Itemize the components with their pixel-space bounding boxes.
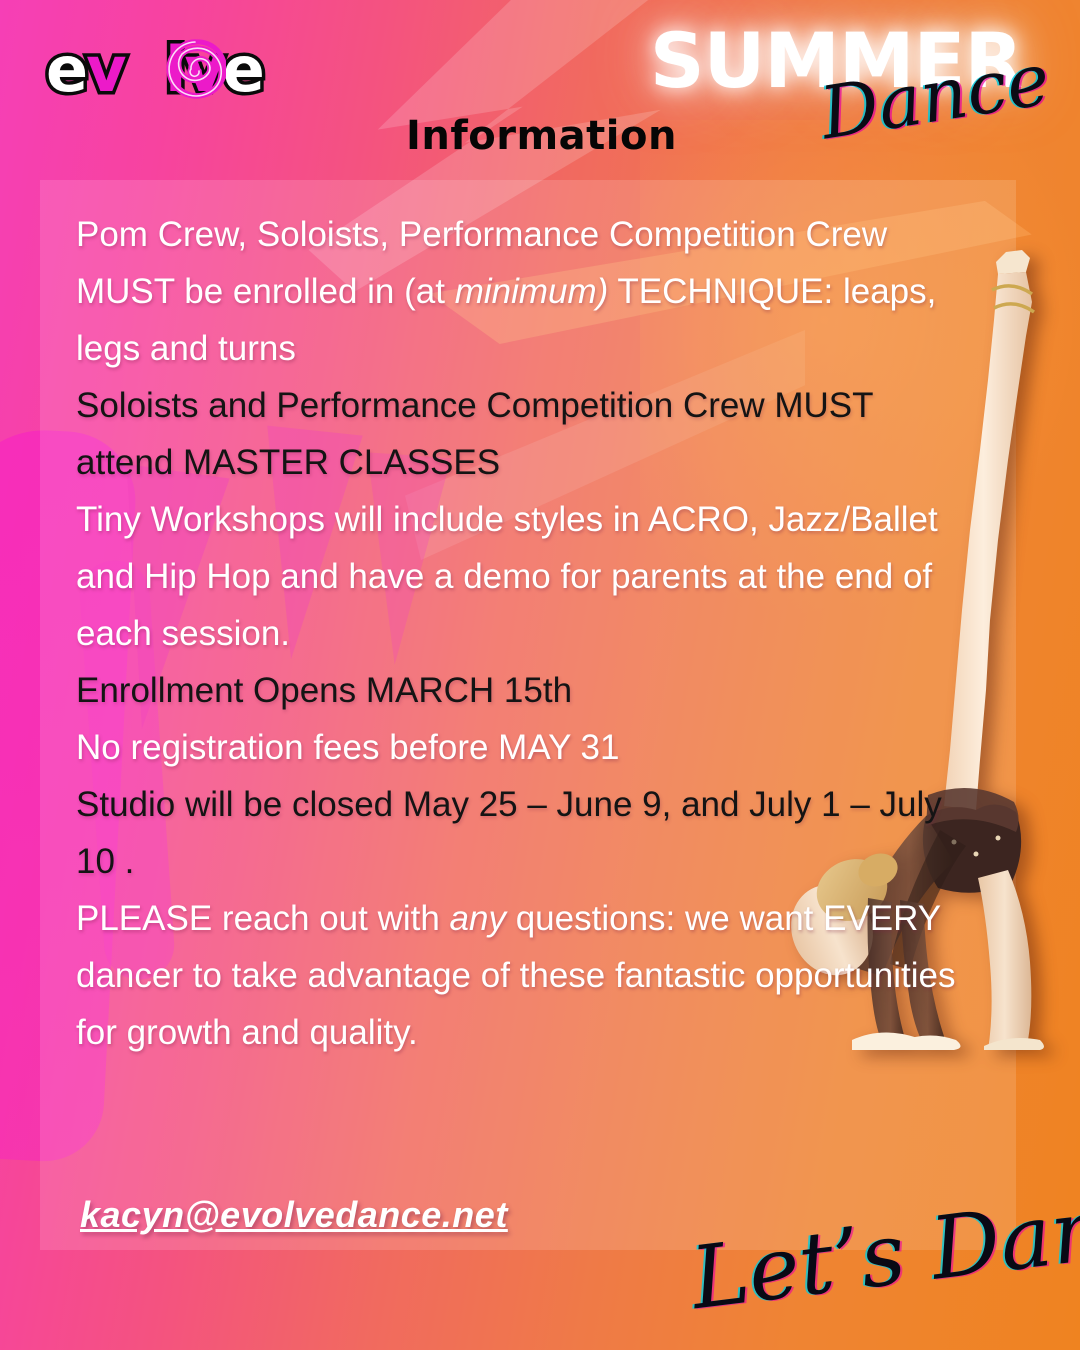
paragraph-enrollment-opens: Enrollment Opens MARCH 15th <box>76 662 956 719</box>
dancer-standing-leg <box>978 870 1031 1050</box>
logo-letter-e-0: e <box>46 33 86 106</box>
dancer-pointed-shoe <box>996 250 1030 274</box>
emphasis-text: any <box>450 899 506 938</box>
paragraph-studio-closed: Studio will be closed May 25 – June 9, a… <box>76 776 956 890</box>
paragraph-no-registration-fees: No registration fees before MAY 31 <box>76 719 956 776</box>
paragraph-master-classes: Soloists and Performance Competition Cre… <box>76 377 956 491</box>
evolve-logo: evolve <box>46 30 316 110</box>
logo-letter-e-5: e <box>223 33 263 106</box>
costume-stone-2 <box>974 852 979 857</box>
dancer-raised-leg <box>944 272 1032 810</box>
contact-email-link[interactable]: kacyn@evolvedance.net <box>80 1194 508 1236</box>
page-title: Information <box>406 113 677 159</box>
costume-stone-3 <box>996 836 1001 841</box>
poster-canvas: evolve SUMMER Dance Information <box>0 0 1080 1350</box>
paragraph-requirements: Pom Crew, Soloists, Performance Competit… <box>76 206 956 377</box>
logo-wordmark: evolve <box>46 30 263 110</box>
emphasis-text: minimum) <box>455 272 609 311</box>
information-body: Pom Crew, Soloists, Performance Competit… <box>76 206 956 1061</box>
paragraph-please-reach-out: PLEASE reach out with any questions: we … <box>76 890 956 1061</box>
spiral-icon <box>164 38 226 100</box>
paragraph-tiny-workshops: Tiny Workshops will include styles in AC… <box>76 491 956 662</box>
logo-letter-v-1: v <box>86 33 124 106</box>
